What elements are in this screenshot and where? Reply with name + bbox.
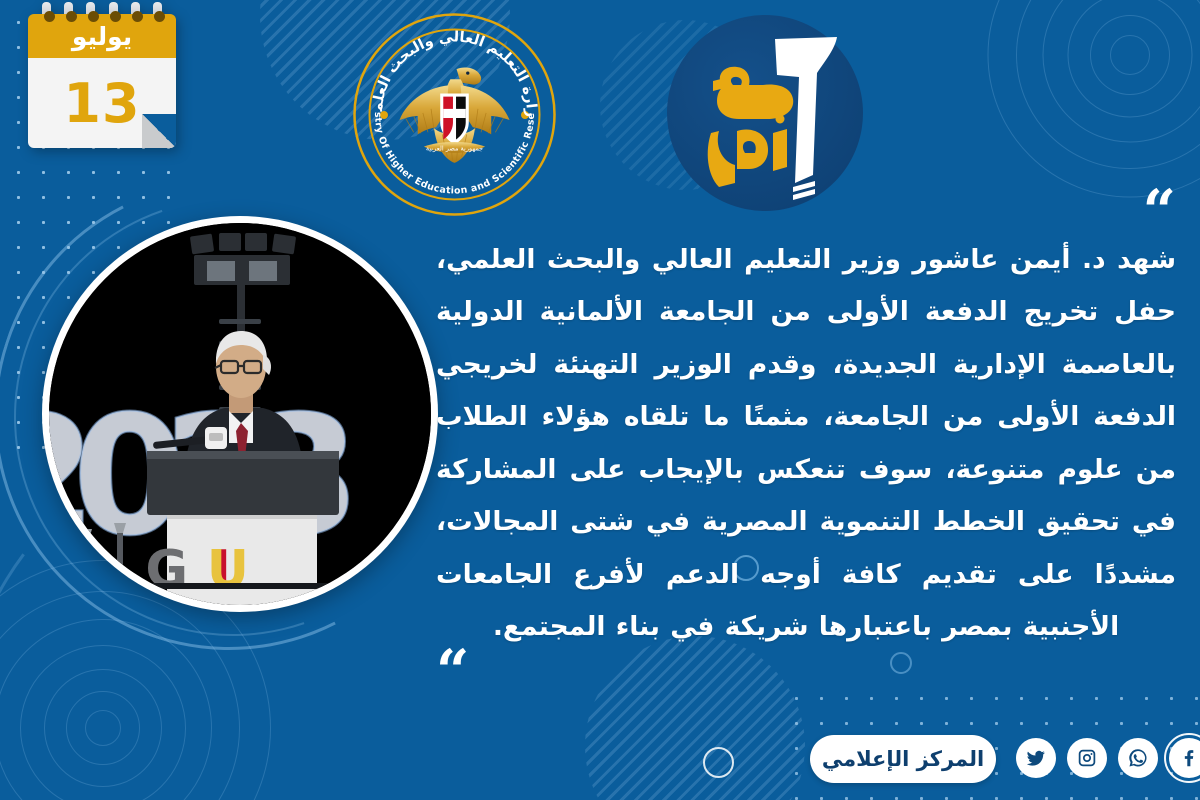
- event-photo-image: 2 0 2 3 2 0 2 3: [49, 223, 431, 605]
- svg-text:U: U: [207, 540, 249, 600]
- quote-close-mark: “: [436, 656, 1176, 688]
- twitter-icon[interactable]: [1016, 738, 1056, 778]
- calendar-month-header: يوليو: [28, 14, 176, 58]
- calendar-binder-hole: [66, 11, 77, 22]
- quote-open-mark: “: [436, 196, 1176, 228]
- instagram-icon[interactable]: [1067, 738, 1107, 778]
- quote-block: “ شهد د. أيمن عاشور وزير التعليم العالي …: [436, 196, 1176, 688]
- podium: G I U: [145, 451, 339, 605]
- calendar-binder-hole: [154, 11, 165, 22]
- svg-text:G: G: [145, 540, 188, 600]
- facebook-icon[interactable]: [1169, 738, 1200, 778]
- infographic-card: يوليو 13 وزارة التعليم العالي: [0, 0, 1200, 800]
- media-center-badge: المركز الإعلامي: [810, 735, 996, 783]
- whatsapp-icon[interactable]: [1118, 738, 1158, 778]
- social-links: [1016, 738, 1200, 778]
- calendar-binder-hole: [132, 11, 143, 22]
- media-center-label: المركز الإعلامي: [822, 747, 984, 771]
- calendar-month-label: يوليو: [72, 22, 132, 51]
- quote-text: شهد د. أيمن عاشور وزير التعليم العالي وا…: [436, 234, 1176, 654]
- calendar-page-fold: [142, 114, 176, 148]
- eagle-of-saladin-icon: جمهورية مصر العربية: [399, 67, 509, 162]
- ministry-seal: وزارة التعليم العالي والبحث العلمي Minis…: [352, 12, 557, 217]
- calendar-body: 13: [28, 58, 176, 148]
- calendar-binder-hole: [88, 11, 99, 22]
- calendar-widget: يوليو 13: [28, 8, 176, 148]
- event-photo: 2 0 2 3 2 0 2 3: [42, 216, 438, 612]
- decor-circle-footer: [703, 747, 734, 778]
- seal-republic-text: جمهورية مصر العربية: [426, 145, 483, 153]
- calendar-binder-hole: [110, 11, 121, 22]
- calendar-binder-hole: [44, 11, 55, 22]
- hasad-ayam-logo-icon: [667, 15, 863, 211]
